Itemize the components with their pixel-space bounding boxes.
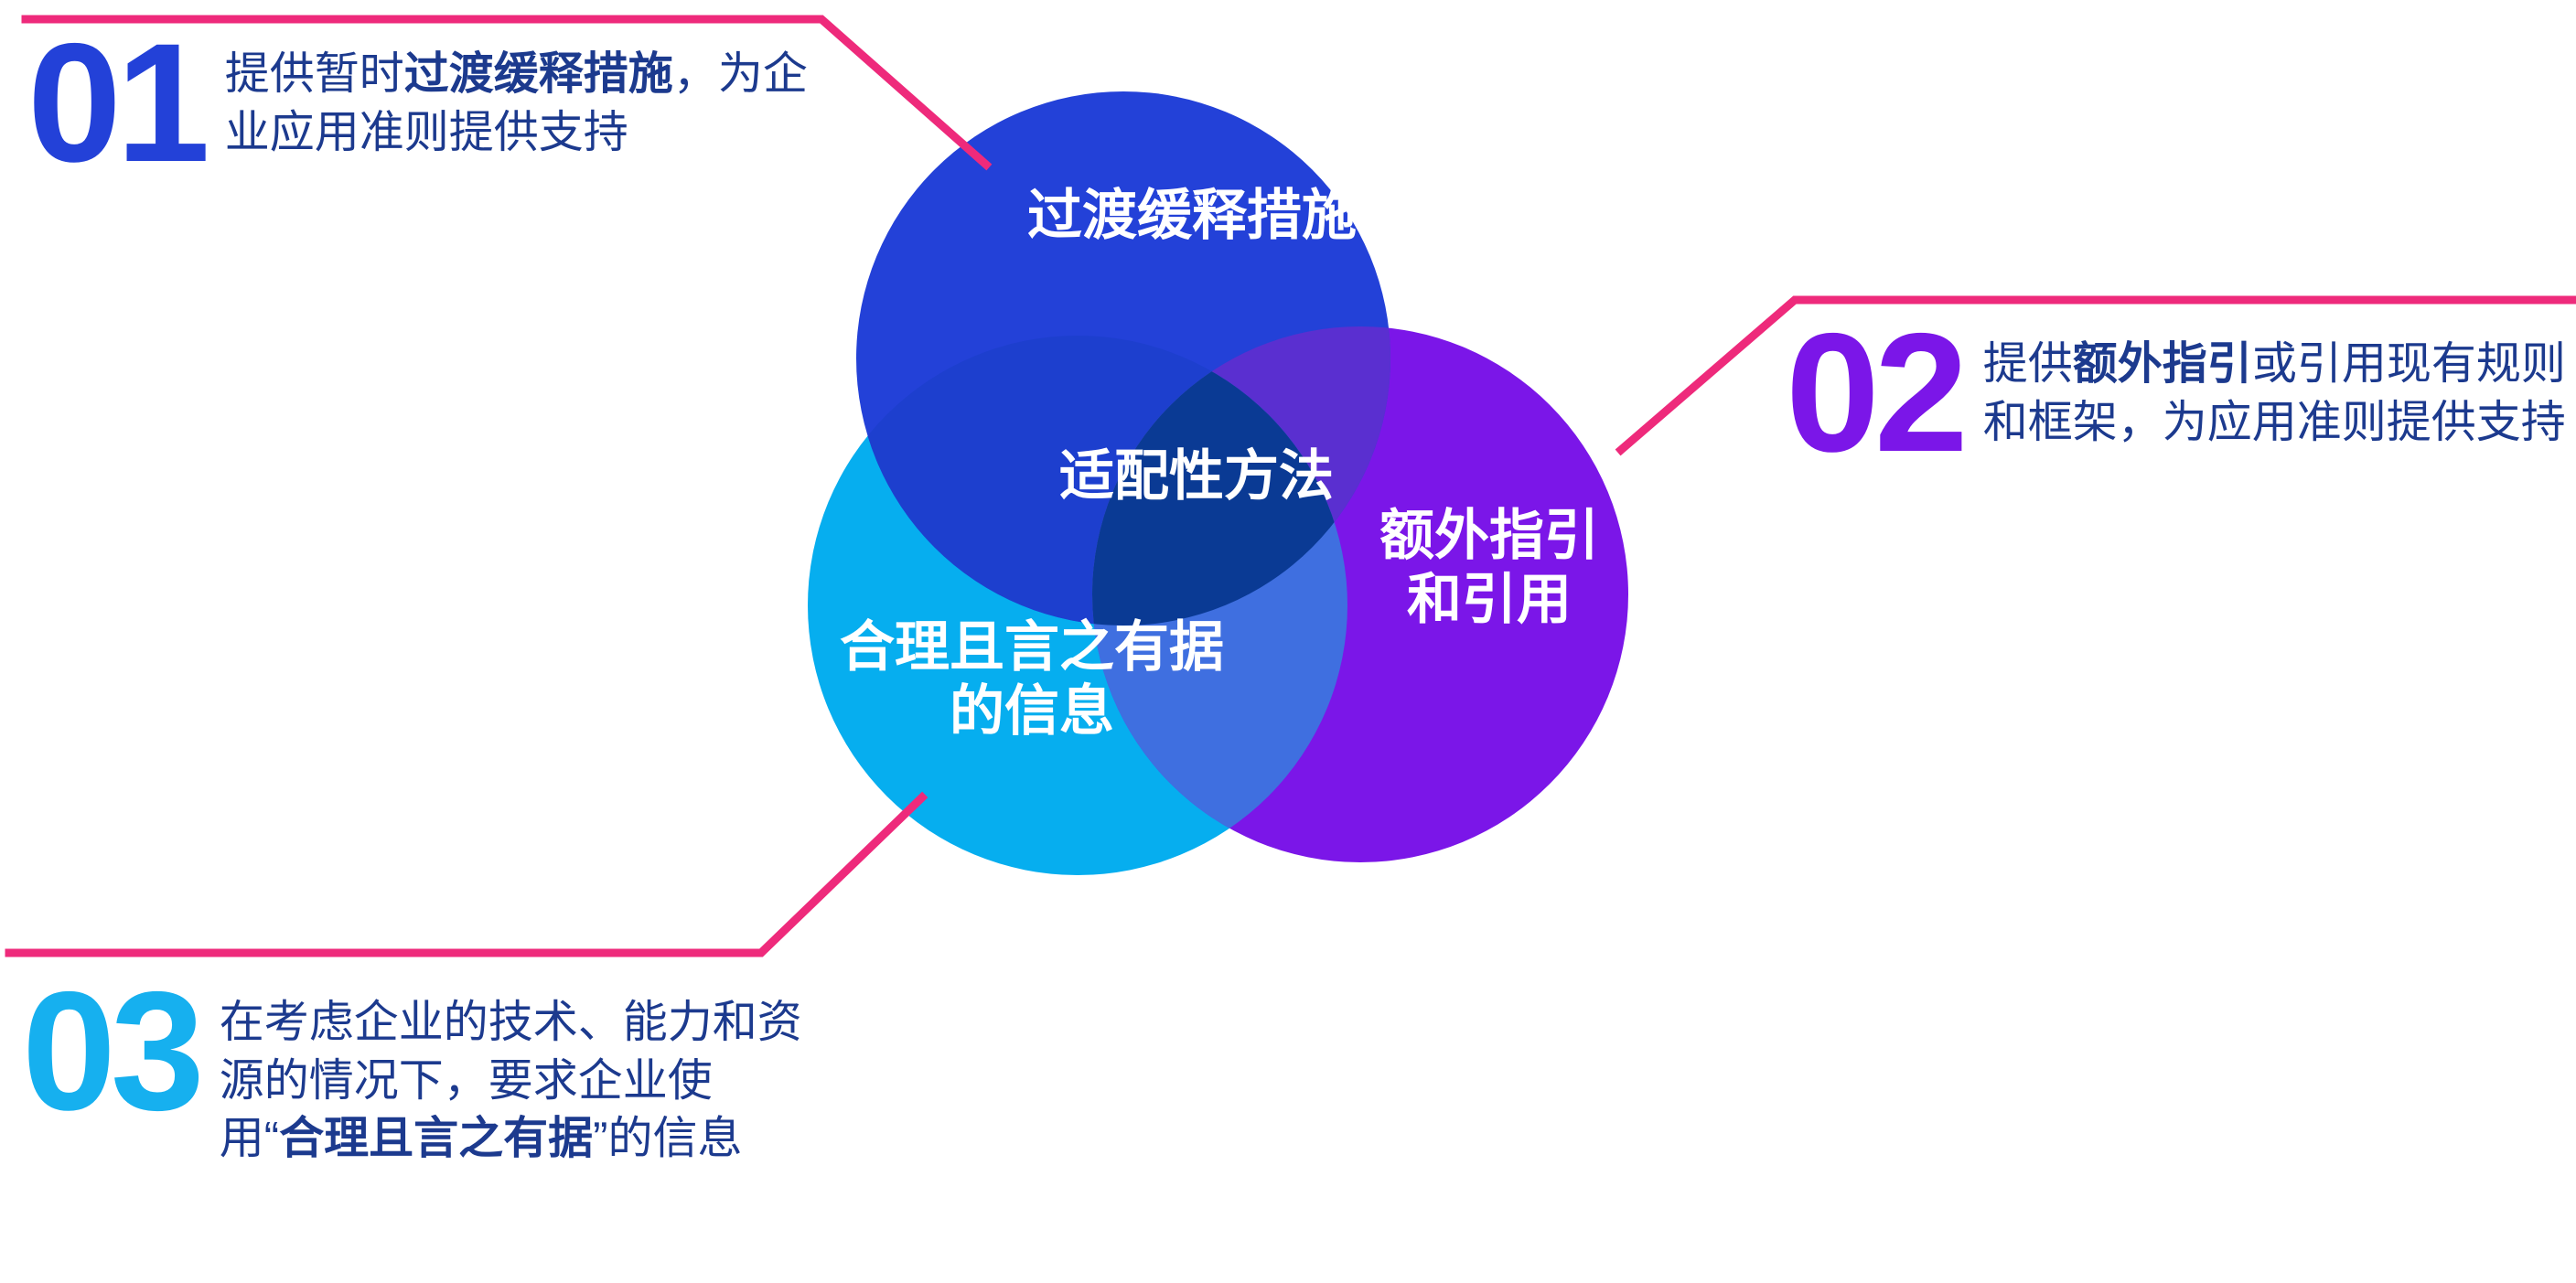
callout-02-run-0: 提供 bbox=[1983, 339, 2073, 389]
callout-02-run-1: 额外指引 bbox=[2073, 339, 2252, 389]
callout-01[interactable]: 01 提供暂时过渡缓释措施，为企业应用准则提供支持 bbox=[27, 35, 810, 174]
callout-01-text: 提供暂时过渡缓释措施，为企业应用准则提供支持 bbox=[225, 35, 810, 162]
callout-01-run-0: 提供暂时 bbox=[225, 49, 404, 99]
callout-03-run-1: 合理且言之有据 bbox=[279, 1114, 593, 1163]
callout-03-number: 03 bbox=[22, 983, 199, 1122]
callout-01-run-1: 过渡缓释措施 bbox=[404, 49, 673, 99]
callout-02-text: 提供额外指引或引用现有规则和框架，为应用准则提供支持 bbox=[1983, 325, 2569, 452]
callout-03[interactable]: 03 在考虑企业的技术、能力和资源的情况下，要求企业使用“合理且言之有据”的信息 bbox=[22, 983, 805, 1169]
callout-02[interactable]: 02 提供额外指引或引用现有规则和框架，为应用准则提供支持 bbox=[1786, 325, 2569, 464]
callout-01-number: 01 bbox=[27, 35, 205, 174]
callout-03-run-2: ”的信息 bbox=[593, 1114, 742, 1163]
connector-line-03 bbox=[9, 797, 922, 953]
callout-03-text: 在考虑企业的技术、能力和资源的情况下，要求企业使用“合理且言之有据”的信息 bbox=[220, 983, 805, 1169]
diagram-canvas: 过渡缓释措施 额外指引 和引用 合理且言之有据 的信息 适配性方法 01 提供暂… bbox=[0, 0, 2576, 1283]
callout-02-number: 02 bbox=[1786, 325, 1963, 464]
